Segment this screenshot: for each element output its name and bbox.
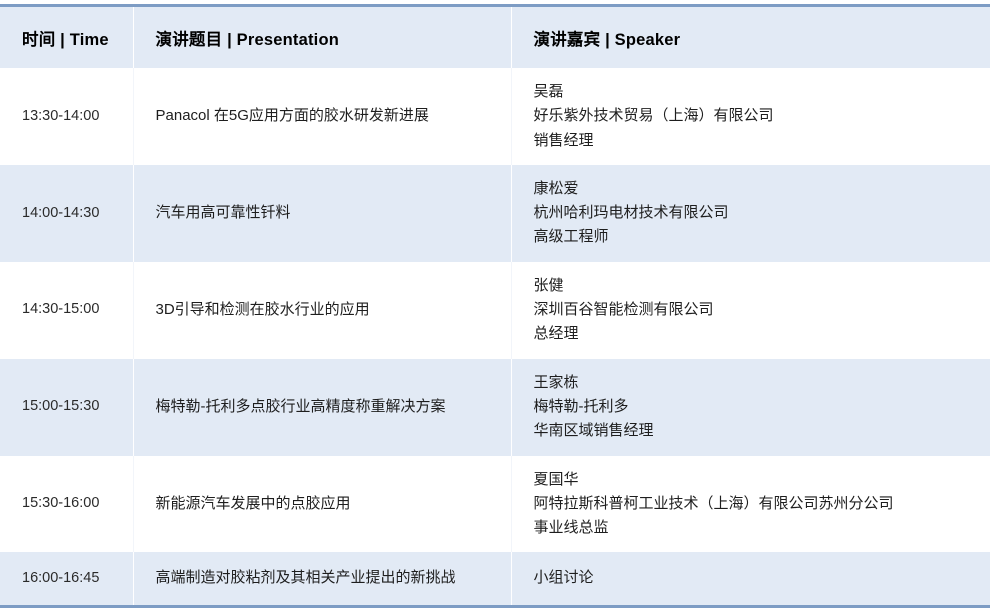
column-header-time: 时间 | Time	[0, 6, 133, 69]
cell-speaker: 张健 深圳百谷智能检测有限公司 总经理	[511, 262, 990, 359]
table-row: 14:30-15:00 3D引导和检测在胶水行业的应用 张健 深圳百谷智能检测有…	[0, 262, 990, 359]
table-row: 16:00-16:45 高端制造对胶粘剂及其相关产业提出的新挑战 小组讨论	[0, 552, 990, 606]
speaker-role: 高级工程师	[534, 225, 979, 249]
cell-speaker: 夏国华 阿特拉斯科普柯工业技术（上海）有限公司苏州分公司 事业线总监	[511, 456, 990, 553]
cell-speaker: 王家栋 梅特勒-托利多 华南区域销售经理	[511, 359, 990, 456]
speaker-name: 小组讨论	[534, 566, 979, 590]
speaker-role: 销售经理	[534, 129, 978, 153]
speaker-role: 事业线总监	[534, 516, 978, 540]
speaker-role: 华南区域销售经理	[534, 419, 979, 443]
cell-presentation: 3D引导和检测在胶水行业的应用	[133, 262, 511, 359]
agenda-container: 时间 | Time 演讲题目 | Presentation 演讲嘉宾 | Spe…	[0, 0, 990, 555]
table-header: 时间 | Time 演讲题目 | Presentation 演讲嘉宾 | Spe…	[0, 6, 990, 69]
speaker-name: 吴磊	[534, 80, 978, 104]
cell-time: 14:30-15:00	[0, 262, 133, 359]
cell-presentation: 汽车用高可靠性钎料	[133, 165, 511, 262]
cell-presentation: 新能源汽车发展中的点胶应用	[133, 456, 511, 553]
speaker-name: 张健	[534, 274, 978, 298]
speaker-organization: 阿特拉斯科普柯工业技术（上海）有限公司苏州分公司	[534, 492, 978, 516]
speaker-role: 总经理	[534, 322, 978, 346]
cell-speaker: 吴磊 好乐紫外技术贸易（上海）有限公司 销售经理	[511, 68, 990, 165]
speaker-organization: 杭州哈利玛电材技术有限公司	[534, 201, 979, 225]
table-row: 13:30-14:00 Panacol 在5G应用方面的胶水研发新进展 吴磊 好…	[0, 68, 990, 165]
cell-time: 16:00-16:45	[0, 552, 133, 606]
table-row: 14:00-14:30 汽车用高可靠性钎料 康松爱 杭州哈利玛电材技术有限公司 …	[0, 165, 990, 262]
cell-speaker: 小组讨论	[511, 552, 990, 606]
cell-time: 14:00-14:30	[0, 165, 133, 262]
cell-presentation: 高端制造对胶粘剂及其相关产业提出的新挑战	[133, 552, 511, 606]
speaker-name: 王家栋	[534, 371, 979, 395]
cell-time: 13:30-14:00	[0, 68, 133, 165]
speaker-name: 康松爱	[534, 177, 979, 201]
header-row: 时间 | Time 演讲题目 | Presentation 演讲嘉宾 | Spe…	[0, 6, 990, 69]
table-row: 15:00-15:30 梅特勒-托利多点胶行业高精度称重解决方案 王家栋 梅特勒…	[0, 359, 990, 456]
column-header-presentation: 演讲题目 | Presentation	[133, 6, 511, 69]
cell-time: 15:30-16:00	[0, 456, 133, 553]
table-body: 13:30-14:00 Panacol 在5G应用方面的胶水研发新进展 吴磊 好…	[0, 68, 990, 606]
speaker-organization: 梅特勒-托利多	[534, 395, 979, 419]
speaker-organization: 深圳百谷智能检测有限公司	[534, 298, 978, 322]
cell-time: 15:00-15:30	[0, 359, 133, 456]
cell-presentation: Panacol 在5G应用方面的胶水研发新进展	[133, 68, 511, 165]
speaker-organization: 好乐紫外技术贸易（上海）有限公司	[534, 104, 978, 128]
table-row: 15:30-16:00 新能源汽车发展中的点胶应用 夏国华 阿特拉斯科普柯工业技…	[0, 456, 990, 553]
cell-speaker: 康松爱 杭州哈利玛电材技术有限公司 高级工程师	[511, 165, 990, 262]
cell-presentation: 梅特勒-托利多点胶行业高精度称重解决方案	[133, 359, 511, 456]
column-header-speaker: 演讲嘉宾 | Speaker	[511, 6, 990, 69]
agenda-table: 时间 | Time 演讲题目 | Presentation 演讲嘉宾 | Spe…	[0, 4, 990, 608]
speaker-name: 夏国华	[534, 468, 978, 492]
